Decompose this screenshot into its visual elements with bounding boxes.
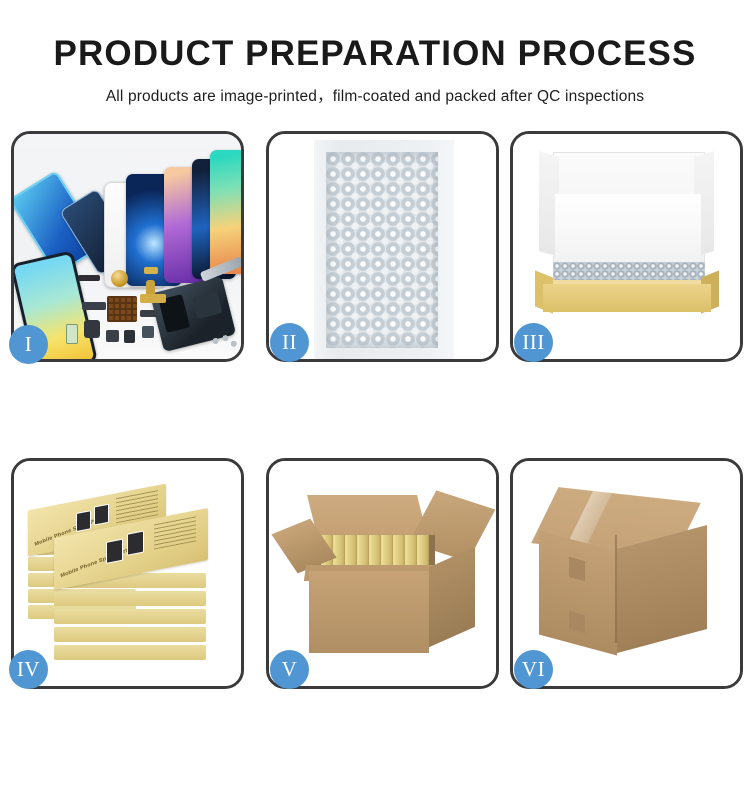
box-phone-image-f2 [127, 530, 144, 555]
step-badge-1: I [9, 325, 48, 364]
step-badge-5: V [270, 650, 309, 689]
sealed-carton-corner-edge [615, 535, 617, 643]
step-1-image [14, 134, 241, 359]
page-title: PRODUCT PREPARATION PROCESS [0, 0, 750, 73]
step-badge-4: IV [9, 650, 48, 689]
part-button [124, 330, 135, 343]
part-speaker [78, 275, 100, 281]
step-4-image: Mobile Phone Spare Parts Mobile Phone Sp… [14, 461, 241, 686]
part-flex-cable [82, 302, 106, 310]
page-subtitle: All products are image-printed，film-coat… [0, 73, 750, 106]
box-spec-lines-front [154, 515, 196, 549]
box-phone-image-b2 [94, 504, 109, 526]
step-badge-6: VI [514, 650, 553, 689]
part-module [84, 320, 100, 338]
step-3-image [513, 134, 740, 359]
screw-grid-part [107, 296, 137, 322]
bubble-wrap-highlights [333, 159, 433, 341]
stacked-box-side-f2 [54, 591, 206, 606]
page-header: PRODUCT PREPARATION PROCESS All products… [0, 0, 750, 106]
carton-front-panel [309, 571, 429, 653]
box-phone-image-f1 [106, 539, 123, 564]
step-panel-4[interactable]: Mobile Phone Spare Parts Mobile Phone Sp… [11, 458, 244, 689]
stacked-box-side-f5 [54, 645, 206, 660]
process-row-top: I II I [0, 131, 750, 363]
screws-group [210, 334, 238, 348]
step-badge-3: III [514, 323, 553, 362]
step-5-image [269, 461, 496, 686]
sealed-carton-left-face [539, 531, 617, 656]
copper-coil-part [111, 270, 128, 287]
phone-screen-teal [210, 150, 241, 274]
part-camera [142, 326, 154, 338]
part-flex-gold [144, 267, 158, 274]
part-bracket [140, 310, 158, 317]
step-6-image [513, 461, 740, 686]
step-badge-2: II [270, 323, 309, 362]
box-tray-front [543, 284, 711, 312]
carton-tab-upper [569, 557, 585, 581]
stacked-box-side-f3 [54, 609, 206, 624]
part-battery [66, 324, 78, 344]
step-panel-1[interactable] [11, 131, 244, 362]
box-phone-image-b1 [76, 510, 91, 532]
foam-insert [555, 194, 701, 262]
part-small-chip [106, 330, 119, 342]
part-gold-strip [140, 294, 166, 303]
process-row-bottom: Mobile Phone Spare Parts Mobile Phone Sp… [0, 458, 750, 690]
process-steps-grid: I II I [0, 131, 750, 785]
stacked-box-side-f4 [54, 627, 206, 642]
step-2-image [269, 134, 496, 359]
